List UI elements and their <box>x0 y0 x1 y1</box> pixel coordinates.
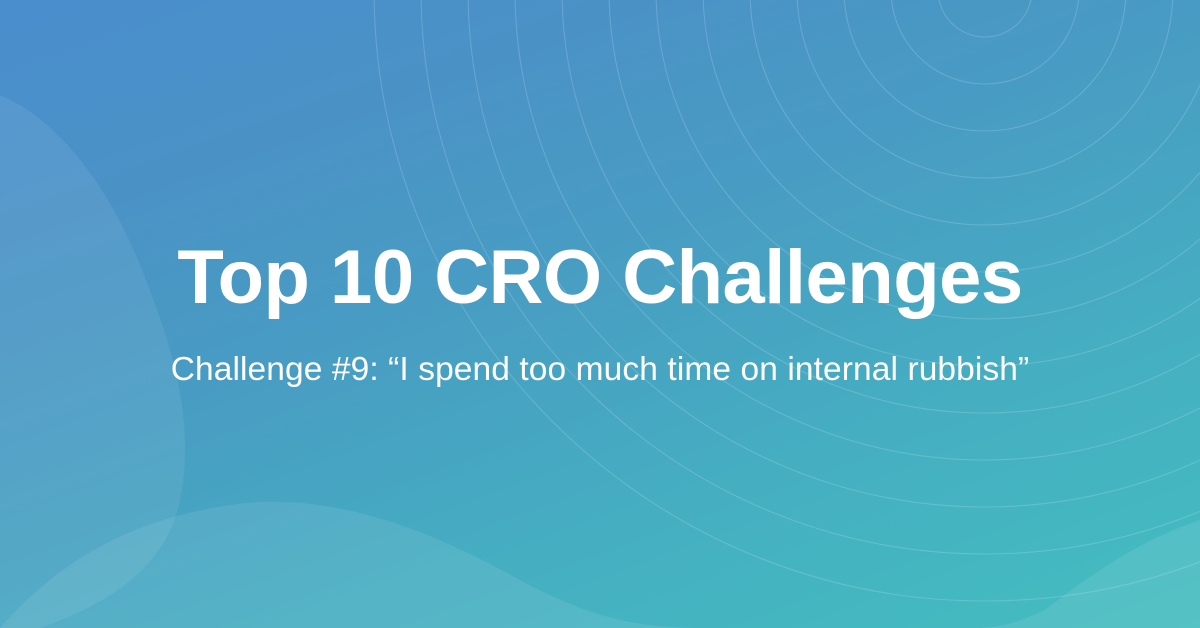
page-title: Top 10 CRO Challenges <box>177 237 1022 319</box>
page-subtitle: Challenge #9: “I spend too much time on … <box>171 349 1030 391</box>
banner-content: Top 10 CRO Challenges Challenge #9: “I s… <box>0 0 1200 628</box>
banner-card: Top 10 CRO Challenges Challenge #9: “I s… <box>0 0 1200 628</box>
